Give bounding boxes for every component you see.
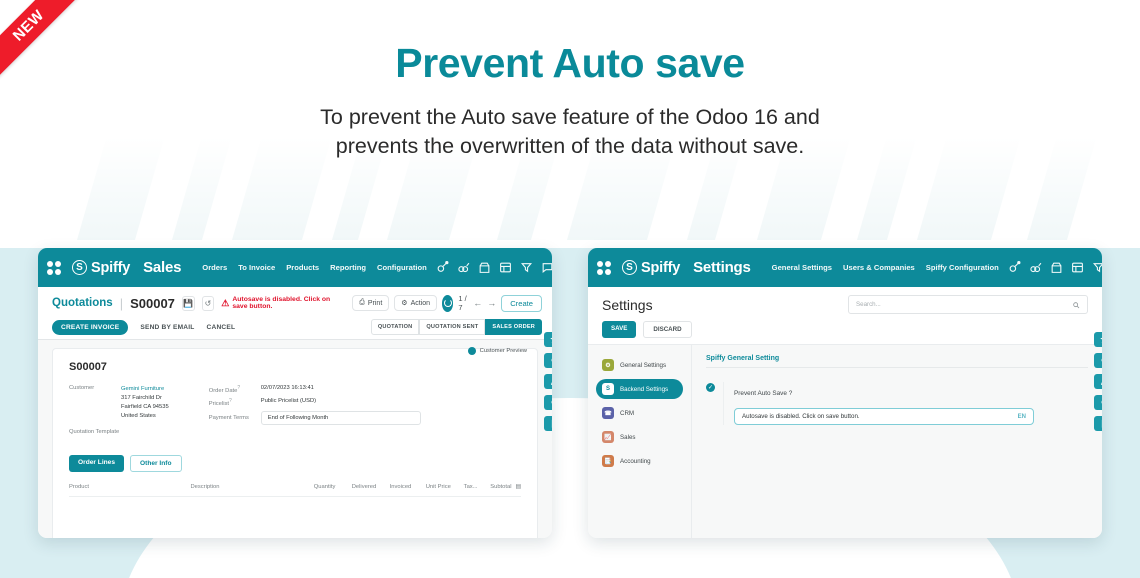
header-block: Prevent Auto save To prevent the Auto sa… bbox=[0, 0, 1140, 160]
form-column-right: Order Date? 02/07/2023 16:13:41 Pricelis… bbox=[209, 385, 421, 439]
apps-grid-icon[interactable] bbox=[47, 261, 61, 275]
sidebar-item-crm[interactable]: ☎ CRM bbox=[596, 403, 683, 423]
statusbar-row: CREATE INVOICE SEND BY EMAIL CANCEL QUOT… bbox=[52, 313, 542, 339]
settings-title-row: Settings Search... bbox=[602, 295, 1088, 314]
nav-menu-spiffy-configuration[interactable]: Spiffy Configuration bbox=[926, 263, 999, 272]
nav-menu-to-invoice[interactable]: To Invoice bbox=[238, 263, 275, 272]
sidebar-item-label: Sales bbox=[620, 434, 635, 441]
star-icon[interactable] bbox=[544, 332, 552, 347]
autosave-warning: ⚠ Autosave is disabled. Click on save bu… bbox=[221, 296, 345, 310]
sidebar-item-label: Backend Settings bbox=[620, 386, 668, 393]
field-pricelist: Pricelist? Public Pricelist (USD) bbox=[209, 398, 421, 407]
payment-terms-label: Payment Terms bbox=[209, 411, 261, 421]
nav-menu-orders[interactable]: Orders bbox=[202, 263, 227, 272]
floating-toolbar-right bbox=[1094, 332, 1102, 431]
status-quotation-sent[interactable]: QUOTATION SENT bbox=[419, 319, 485, 335]
nav-menu-users-companies[interactable]: Users & Companies bbox=[843, 263, 915, 272]
brand-name: Spiffy bbox=[641, 260, 680, 276]
navbar-systray bbox=[1008, 258, 1102, 277]
activity-icon[interactable] bbox=[1008, 261, 1021, 274]
section-title: Spiffy General Setting bbox=[706, 355, 1088, 362]
subtitle-line-2: prevents the overwritten of the data wit… bbox=[0, 132, 1140, 161]
search-placeholder: Search... bbox=[856, 301, 1068, 308]
form-sheet-wrapper: Customer Preview S00007 Customer Gemini … bbox=[38, 340, 552, 538]
customer-address-line-1: 317 Fairchild Dr bbox=[121, 395, 162, 401]
gear-icon: ⚙ bbox=[401, 299, 407, 307]
pager-previous-icon[interactable]: ← bbox=[473, 298, 482, 308]
gear-icon: ⚙ bbox=[602, 359, 614, 371]
quotation-template-label: Quotation Template bbox=[69, 429, 141, 435]
zoom-icon[interactable] bbox=[1094, 395, 1102, 410]
bookmark-icon[interactable] bbox=[1094, 416, 1102, 431]
breadcrumb-parent[interactable]: Quotations bbox=[52, 297, 113, 309]
breadcrumb-current: S00007 bbox=[130, 296, 175, 311]
edit-icon[interactable] bbox=[1094, 374, 1102, 389]
settings-page-title: Settings bbox=[602, 297, 653, 313]
autosave-message-input[interactable]: Autosave is disabled. Click on save butt… bbox=[734, 408, 1034, 425]
messages-icon[interactable] bbox=[457, 261, 470, 274]
cancel-button[interactable]: CANCEL bbox=[207, 324, 236, 331]
settings-action-buttons: SAVE DISCARD bbox=[602, 321, 1088, 338]
field-payment-terms: Payment Terms End of Following Month bbox=[209, 411, 421, 425]
print-label: Print bbox=[368, 300, 382, 307]
discard-record-icon[interactable]: ↺ bbox=[202, 296, 215, 311]
discard-button[interactable]: DISCARD bbox=[643, 321, 691, 338]
autosave-message-value: Autosave is disabled. Click on save butt… bbox=[742, 413, 1018, 420]
tab-order-lines[interactable]: Order Lines bbox=[69, 455, 124, 472]
settings-main-panel: Spiffy General Setting ✓ Prevent Auto Sa… bbox=[692, 345, 1102, 538]
th-delivered: Delivered bbox=[352, 484, 390, 490]
save-record-icon[interactable]: 💾 bbox=[182, 296, 195, 311]
form-column-left: Customer Gemini Furniture 317 Fairchild … bbox=[69, 385, 169, 439]
tab-other-info[interactable]: Other Info bbox=[130, 455, 182, 472]
warning-triangle-icon: ⚠ bbox=[221, 299, 229, 308]
prevent-auto-save-checkbox[interactable]: ✓ bbox=[706, 383, 715, 392]
apps-grid-icon[interactable] bbox=[597, 261, 611, 275]
chat-icon[interactable] bbox=[541, 261, 552, 274]
search-icon[interactable] bbox=[1072, 296, 1080, 314]
setting-content: Prevent Auto Save ? Autosave is disabled… bbox=[723, 382, 1088, 425]
activity-icon[interactable] bbox=[436, 261, 449, 274]
brand-logo[interactable]: S Spiffy bbox=[622, 260, 680, 276]
create-invoice-button[interactable]: CREATE INVOICE bbox=[52, 320, 128, 335]
order-lines-table-header: Product Description Quantity Delivered I… bbox=[69, 484, 521, 497]
pricelist-label: Pricelist? bbox=[209, 398, 261, 407]
th-product: Product bbox=[69, 484, 190, 490]
language-badge[interactable]: EN bbox=[1018, 414, 1026, 420]
customer-preview-button[interactable]: Customer Preview bbox=[468, 347, 527, 355]
spiffy-logo-icon: S bbox=[622, 260, 637, 275]
spiffy-logo-icon: S bbox=[72, 260, 87, 275]
customer-name[interactable]: Gemini Furniture bbox=[121, 386, 164, 392]
navbar-systray bbox=[436, 258, 552, 277]
breadcrumb-row: Quotations | S00007 💾 ↺ ⚠ Autosave is di… bbox=[52, 293, 542, 313]
customer-address-line-3: United States bbox=[121, 413, 156, 419]
th-unit-price: Unit Price bbox=[426, 484, 464, 490]
zoom-icon[interactable] bbox=[544, 395, 552, 410]
settings-control-panel: Settings Search... SAVE DISCARD bbox=[588, 287, 1102, 345]
sidebar-item-label: Accounting bbox=[620, 458, 651, 465]
form-sheet: Customer Preview S00007 Customer Gemini … bbox=[52, 348, 538, 538]
preview-bubble-icon bbox=[468, 347, 476, 355]
star-icon[interactable] bbox=[1094, 332, 1102, 347]
megaphone-icon[interactable] bbox=[1092, 261, 1102, 274]
action-label: Action bbox=[411, 300, 430, 307]
setting-prevent-auto-save: ✓ Prevent Auto Save ? Autosave is disabl… bbox=[706, 382, 1088, 425]
breadcrumb-separator: | bbox=[120, 296, 123, 311]
create-button[interactable]: Create bbox=[501, 295, 542, 312]
nav-menu-general-settings[interactable]: General Settings bbox=[772, 263, 832, 272]
spiffy-icon: S bbox=[602, 383, 614, 395]
subtitle-line-1: To prevent the Auto save feature of the … bbox=[0, 103, 1140, 132]
record-title: S00007 bbox=[69, 361, 521, 373]
sidebar-item-general-settings[interactable]: ⚙ General Settings bbox=[596, 355, 683, 375]
printer-icon: ⎙ bbox=[359, 299, 365, 307]
odoo-navbar-sales: S Spiffy Sales Orders To Invoice Product… bbox=[38, 248, 552, 287]
screenshot-sales-quotation: S Spiffy Sales Orders To Invoice Product… bbox=[38, 248, 552, 538]
setting-label: Prevent Auto Save ? bbox=[734, 390, 792, 397]
optional-columns-icon[interactable]: ▤ bbox=[516, 484, 521, 490]
app-name: Sales bbox=[143, 259, 181, 276]
screenshot-settings: S Spiffy Settings General Settings Users… bbox=[588, 248, 1102, 538]
form-columns: Customer Gemini Furniture 317 Fairchild … bbox=[69, 385, 521, 439]
edit-icon[interactable] bbox=[544, 374, 552, 389]
status-bar: QUOTATION QUOTATION SENT SALES ORDER bbox=[371, 319, 542, 335]
pricelist-value[interactable]: Public Pricelist (USD) bbox=[261, 398, 316, 407]
odoo-navbar-settings: S Spiffy Settings General Settings Users… bbox=[588, 248, 1102, 287]
pager-next-icon[interactable]: → bbox=[487, 298, 496, 308]
sidebar-item-label: CRM bbox=[620, 410, 634, 417]
nav-menu-products[interactable]: Products bbox=[286, 263, 319, 272]
th-tax: Tax... bbox=[464, 484, 491, 490]
search-icon[interactable] bbox=[544, 353, 552, 368]
accounting-icon: 📑 bbox=[602, 455, 614, 467]
bookmark-icon[interactable] bbox=[544, 416, 552, 431]
page-title: Prevent Auto save bbox=[0, 40, 1140, 87]
notebook-tabs: Order Lines Other Info bbox=[69, 455, 521, 472]
customer-label: Customer bbox=[69, 385, 121, 421]
settings-sidebar: ⚙ General Settings S Backend Settings ☎ … bbox=[588, 345, 692, 538]
field-order-date: Order Date? 02/07/2023 16:13:41 bbox=[209, 385, 421, 394]
settings-body: ⚙ General Settings S Backend Settings ☎ … bbox=[588, 345, 1102, 538]
customer-value: Gemini Furniture 317 Fairchild Dr Fairfi… bbox=[121, 385, 169, 421]
status-quotation[interactable]: QUOTATION bbox=[371, 319, 420, 335]
autosave-warning-text: Autosave is disabled. Click on save butt… bbox=[232, 296, 345, 310]
control-panel-actions: ⎙ Print ⚙ Action 1 / 7 ← → Create bbox=[352, 294, 542, 312]
sidebar-item-label: General Settings bbox=[620, 362, 666, 369]
search-input[interactable]: Search... bbox=[848, 295, 1088, 314]
th-invoiced: Invoiced bbox=[390, 484, 426, 490]
th-description: Description bbox=[190, 484, 313, 490]
brand-logo[interactable]: S Spiffy bbox=[72, 260, 130, 276]
save-button[interactable]: SAVE bbox=[602, 321, 636, 338]
floating-toolbar-left bbox=[544, 332, 552, 431]
customer-preview-label: Customer Preview bbox=[480, 348, 527, 355]
field-quotation-template: Quotation Template bbox=[69, 429, 169, 435]
sidebar-item-sales[interactable]: 📈 Sales bbox=[596, 427, 683, 447]
section-divider bbox=[706, 367, 1088, 368]
print-button[interactable]: ⎙ Print bbox=[352, 295, 389, 311]
status-sales-order[interactable]: SALES ORDER bbox=[485, 319, 542, 335]
brand-name: Spiffy bbox=[91, 260, 130, 276]
shop-icon[interactable] bbox=[478, 261, 491, 274]
field-customer: Customer Gemini Furniture 317 Fairchild … bbox=[69, 385, 169, 421]
grid-icon[interactable] bbox=[1071, 261, 1084, 274]
loading-indicator-icon[interactable] bbox=[442, 295, 453, 312]
action-button[interactable]: ⚙ Action bbox=[394, 295, 437, 311]
page-subtitle: To prevent the Auto save feature of the … bbox=[0, 103, 1140, 160]
record-pager: 1 / 7 bbox=[458, 294, 468, 312]
sidebar-item-accounting[interactable]: 📑 Accounting bbox=[596, 451, 683, 471]
megaphone-icon[interactable] bbox=[520, 261, 533, 274]
search-icon[interactable] bbox=[1094, 353, 1102, 368]
order-date-label: Order Date? bbox=[209, 385, 261, 394]
sidebar-item-backend-settings[interactable]: S Backend Settings bbox=[596, 379, 683, 399]
shop-icon[interactable] bbox=[1050, 261, 1063, 274]
payment-terms-input[interactable]: End of Following Month bbox=[261, 411, 421, 425]
crm-icon: ☎ bbox=[602, 407, 614, 419]
messages-icon[interactable] bbox=[1029, 261, 1042, 274]
th-quantity: Quantity bbox=[314, 484, 352, 490]
navbar-menus: General Settings Users & Companies Spiff… bbox=[772, 263, 999, 272]
th-subtotal: Subtotal bbox=[490, 484, 511, 490]
navbar-menus: Orders To Invoice Products Reporting Con… bbox=[202, 263, 426, 272]
order-date-value[interactable]: 02/07/2023 16:13:41 bbox=[261, 385, 314, 394]
send-by-email-button[interactable]: SEND BY EMAIL bbox=[140, 324, 194, 331]
sales-icon: 📈 bbox=[602, 431, 614, 443]
nav-menu-configuration[interactable]: Configuration bbox=[377, 263, 427, 272]
control-panel: Quotations | S00007 💾 ↺ ⚠ Autosave is di… bbox=[38, 287, 552, 340]
app-name: Settings bbox=[693, 259, 751, 276]
customer-address-line-2: Fairfield CA 94535 bbox=[121, 404, 169, 410]
nav-menu-reporting[interactable]: Reporting bbox=[330, 263, 366, 272]
grid-icon[interactable] bbox=[499, 261, 512, 274]
